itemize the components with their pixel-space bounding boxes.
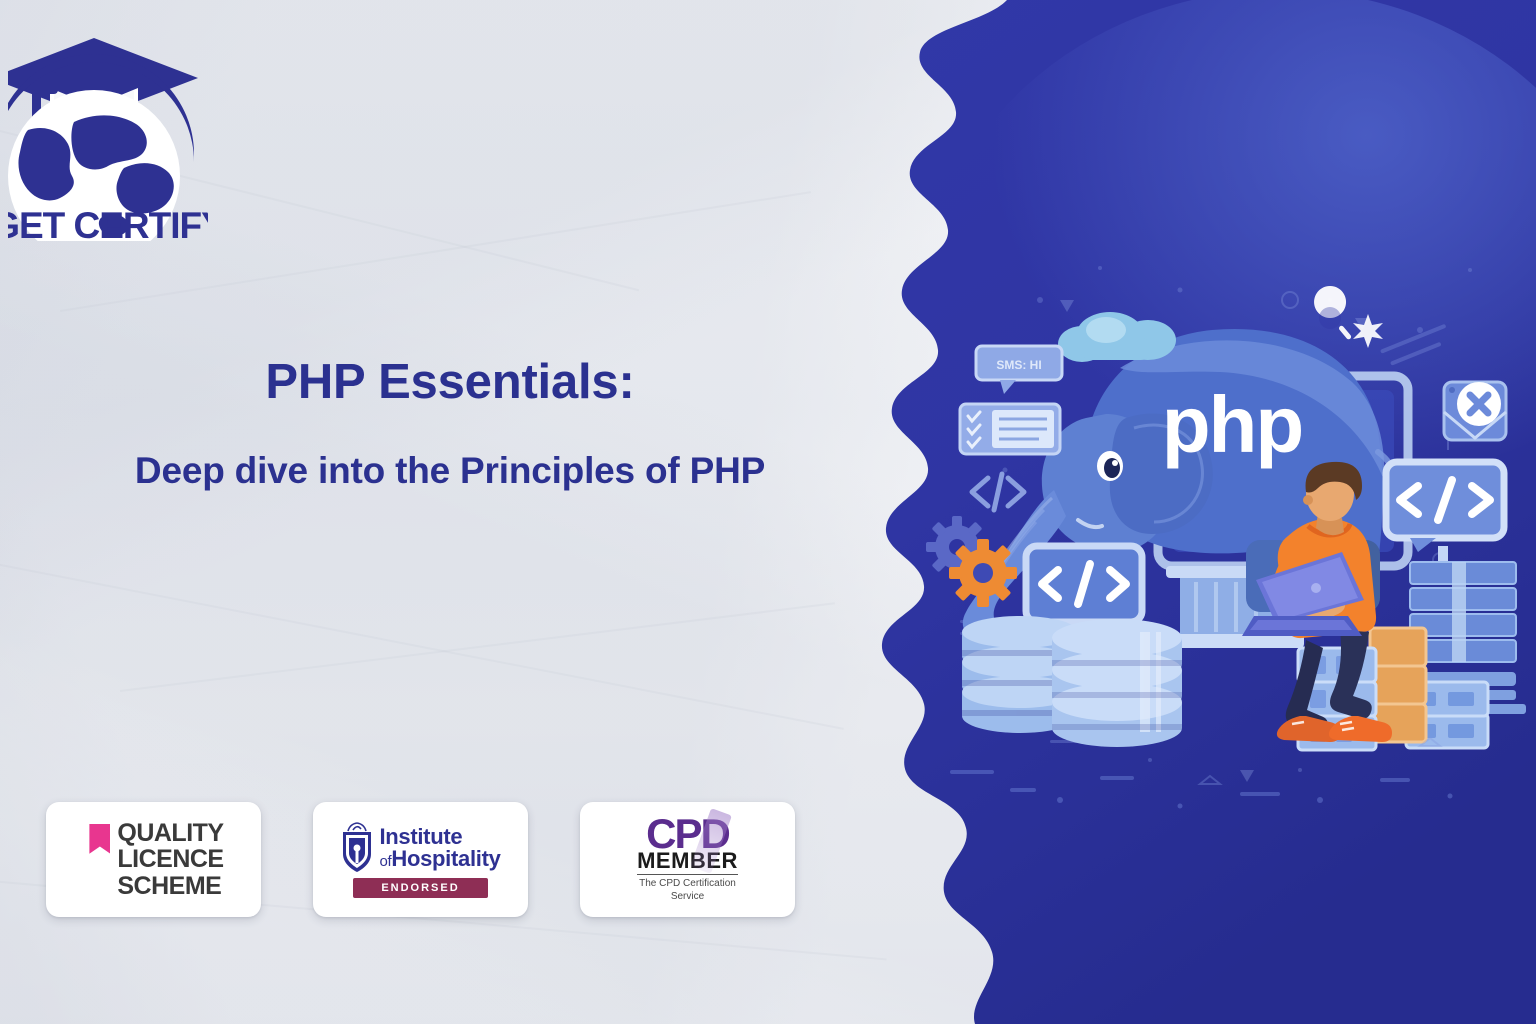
svg-text:SMS: HI: SMS: HI (996, 358, 1041, 372)
badge-institute-of-hospitality[interactable]: Institute ofHospitality ENDORSED (313, 802, 528, 917)
cpd-line-4: Service (639, 891, 736, 904)
badge-cpd-member[interactable]: CPD MEMBER The CPD Certification Service (580, 802, 795, 917)
qls-line-2: LICENCE (117, 846, 223, 873)
accreditation-badges: QUALITY LICENCE SCHEME (46, 802, 795, 917)
badge-quality-licence-scheme[interactable]: QUALITY LICENCE SCHEME (46, 802, 261, 917)
cpd-line-2: MEMBER (637, 850, 738, 875)
page-subtitle: Deep dive into the Principles of PHP (0, 452, 900, 491)
hero-text-block: PHP Essentials: Deep dive into the Princ… (0, 358, 900, 491)
svg-text:php: php (1162, 380, 1303, 469)
bookmark-icon (89, 824, 110, 854)
ioh-line-1: Institute (379, 826, 500, 848)
ioh-of: of (379, 853, 391, 870)
qls-line-3: SCHEME (117, 873, 223, 900)
page-title: PHP Essentials: (0, 358, 900, 408)
qls-line-1: QUALITY (117, 820, 223, 847)
cpd-line-3: The CPD Certification (639, 878, 736, 891)
endorsed-ribbon: ENDORSED (353, 878, 487, 898)
logo-wordmark: GET CERTIFY (8, 205, 208, 241)
heraldic-crest-icon (340, 822, 374, 874)
brand-logo[interactable]: GET CERTIFY (8, 26, 208, 241)
ioh-line-2: Hospitality (391, 846, 500, 871)
slide-canvas: php SMS: HI (0, 0, 1536, 1024)
